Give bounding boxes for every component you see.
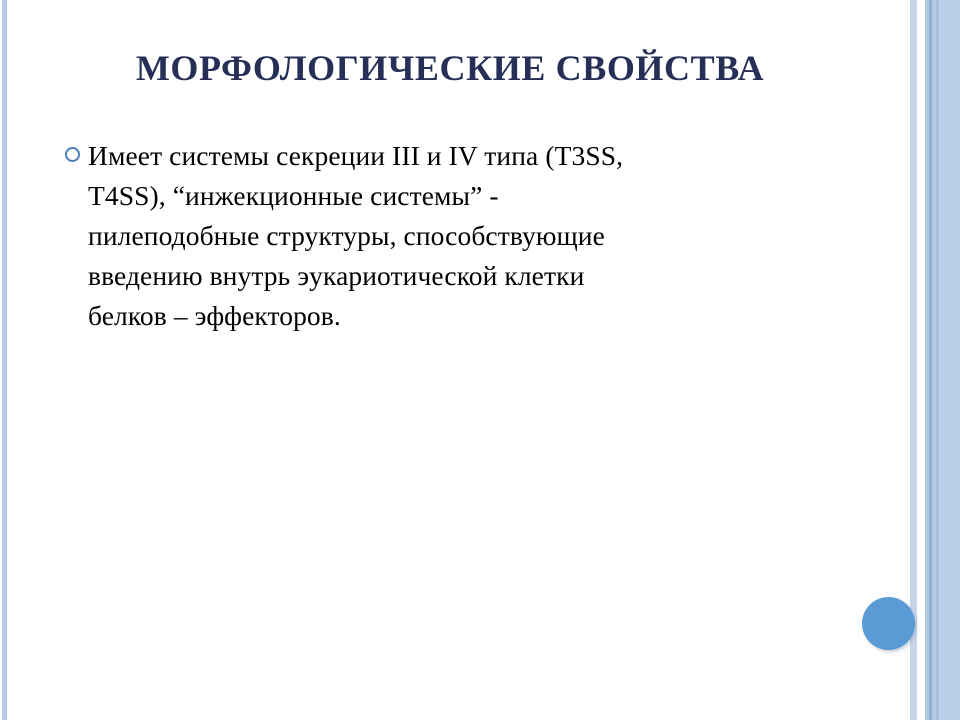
list-item: Имеет системы секреции III и IV типа (T3… [58,136,758,336]
decorative-stripe-6 [939,0,960,720]
bullet-marker [58,136,88,162]
accent-circle-icon [862,597,915,650]
bullet-line: введению внутрь эукариотической клетки [88,256,758,296]
bullet-line: пилеподобные структуры, способствующие [88,216,758,256]
left-accent-rule [2,0,7,720]
page-title: МОРФОЛОГИЧЕСКИЕ СВОЙСТВА [136,48,764,88]
bullet-text: Имеет системы секреции III и IV типа (T3… [88,136,758,336]
circle-outline-bullet-icon [65,147,80,162]
bullet-line: Имеет системы секреции III и IV типа (T3… [88,136,758,176]
slide-body-block: Имеет системы секреции III и IV типа (T3… [58,136,758,336]
slide-canvas: МОРФОЛОГИЧЕСКИЕ СВОЙСТВА Имеет системы с… [0,0,960,720]
bullet-line: белков – эффекторов. [88,296,758,336]
bullet-line: T4SS), “инжекционные системы” - [88,176,758,216]
decorative-stripe-1 [917,0,925,720]
slide-title-block: МОРФОЛОГИЧЕСКИЕ СВОЙСТВА [0,48,900,88]
